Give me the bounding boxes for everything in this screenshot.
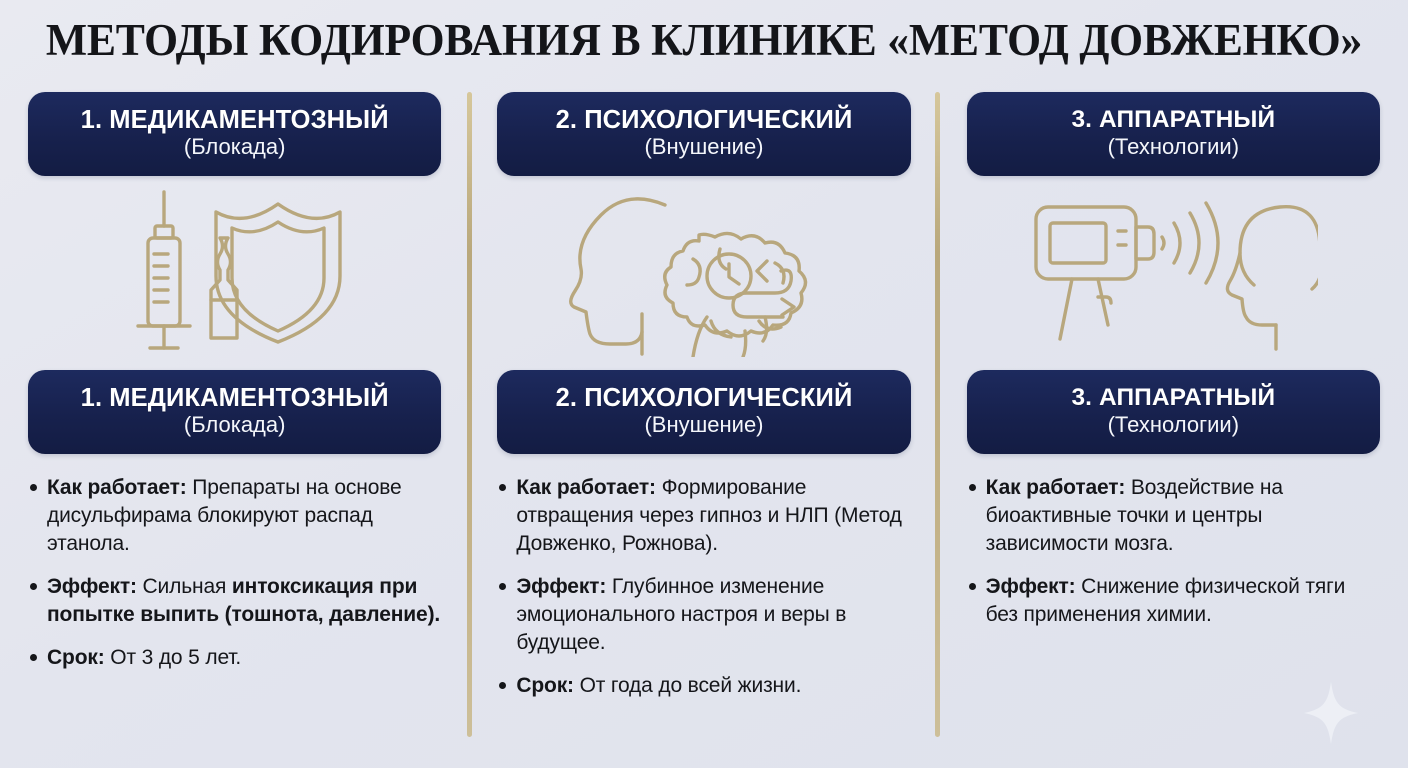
bullet-body: Сильная [137,575,232,598]
syringe-ampoule-shield-icon [120,188,350,358]
bullet-text: Как работает: Воздействие на биоактивные… [986,474,1380,558]
top-card-psychological: 2. ПСИХОЛОГИЧЕСКИЙ (Внушение) [497,92,910,176]
bullet-text: Как работает: Формирование отвращения че… [516,474,910,558]
bottom-card-subtitle: (Внушение) [644,412,763,439]
bullet-body: От 3 до 5 лет. [105,646,242,669]
bottom-card-psychological: 2. ПСИХОЛОГИЧЕСКИЙ (Внушение) [497,370,910,454]
bullet-text: Эффект: Глубинное изменение эмоционально… [516,573,910,657]
top-card-medicamentous: 1. МЕДИКАМЕНТОЗНЫЙ (Блокада) [28,92,441,176]
bullet-label: Эффект: [47,575,137,598]
column-medicamentous: 1. МЕДИКАМЕНТОЗНЫЙ (Блокада) [0,92,469,768]
list-item: Как работает: Препараты на основе дисуль… [30,474,441,558]
column-hardware: 3. АППАРАТНЫЙ (Технологии) [939,92,1408,768]
bullet-label: Срок: [47,646,105,669]
bullet-label: Эффект: [986,575,1076,598]
bullet-dot-icon [969,583,976,590]
list-item: Как работает: Воздействие на биоактивные… [969,474,1380,558]
bullet-dot-icon [499,583,506,590]
top-card-title: 2. ПСИХОЛОГИЧЕСКИЙ [556,107,853,134]
bullet-text: Срок: От года до всей жизни. [516,672,801,700]
bullet-label: Эффект: [516,575,606,598]
column-divider-2 [935,92,940,737]
laser-device-waves-head-icon [1028,193,1318,353]
bullet-dot-icon [499,682,506,689]
column-divider-1 [467,92,472,737]
bottom-card-subtitle: (Блокада) [184,412,286,439]
sparkle-star-icon [1304,682,1358,744]
bullet-text: Эффект: Снижение физической тяги без при… [986,573,1380,629]
bottom-card-title: 2. ПСИХОЛОГИЧЕСКИЙ [556,385,853,412]
bottom-card-subtitle: (Технологии) [1108,412,1239,439]
bullet-dot-icon [30,654,37,661]
bullet-dot-icon [30,484,37,491]
column-psychological: 2. ПСИХОЛОГИЧЕСКИЙ (Внушение) [469,92,938,768]
bullet-list-hardware: Как работает: Воздействие на биоактивные… [967,474,1380,629]
icon-band-hardware [967,176,1380,370]
bullet-text: Как работает: Препараты на основе дисуль… [47,474,441,558]
list-item: Эффект: Снижение физической тяги без при… [969,573,1380,629]
bullet-label: Как работает: [516,476,656,499]
bullet-list-psychological: Как работает: Формирование отвращения че… [497,474,910,699]
bullet-dot-icon [30,583,37,590]
bullet-label: Как работает: [986,476,1126,499]
bottom-card-hardware: 3. АППАРАТНЫЙ (Технологии) [967,370,1380,454]
bullet-text: Эффект: Сильная интоксикация при попытке… [47,573,441,629]
bottom-card-title: 1. МЕДИКАМЕНТОЗНЫЙ [81,385,389,412]
bullet-dot-icon [969,484,976,491]
bullet-label: Как работает: [47,476,187,499]
bottom-card-title: 3. АППАРАТНЫЙ [1071,385,1275,410]
bullet-body: От года до всей жизни. [574,674,801,697]
top-card-title: 1. МЕДИКАМЕНТОЗНЫЙ [81,107,389,134]
methods-columns: 1. МЕДИКАМЕНТОЗНЫЙ (Блокада) [0,92,1408,768]
bullet-text: Срок: От 3 до 5 лет. [47,644,241,672]
page-title: МЕТОДЫ КОДИРОВАНИЯ В КЛИНИКЕ «МЕТОД ДОВЖ… [21,14,1387,66]
list-item: Срок: От 3 до 5 лет. [30,644,441,672]
bullet-list-medicamentous: Как работает: Препараты на основе дисуль… [28,474,441,672]
bottom-card-medicamentous: 1. МЕДИКАМЕНТОЗНЫЙ (Блокада) [28,370,441,454]
top-card-subtitle: (Блокада) [184,134,286,161]
icon-band-psychological [497,176,910,370]
bullet-dot-icon [499,484,506,491]
top-card-hardware: 3. АППАРАТНЫЙ (Технологии) [967,92,1380,176]
list-item: Эффект: Глубинное изменение эмоционально… [499,573,910,657]
top-card-subtitle: (Технологии) [1108,134,1239,161]
list-item: Как работает: Формирование отвращения че… [499,474,910,558]
top-card-subtitle: (Внушение) [644,134,763,161]
top-card-title: 3. АППАРАТНЫЙ [1071,107,1275,132]
head-brain-clock-icon [569,189,839,357]
bullet-label: Срок: [516,674,574,697]
list-item: Эффект: Сильная интоксикация при попытке… [30,573,441,629]
list-item: Срок: От года до всей жизни. [499,672,910,700]
icon-band-medicamentous [28,176,441,370]
